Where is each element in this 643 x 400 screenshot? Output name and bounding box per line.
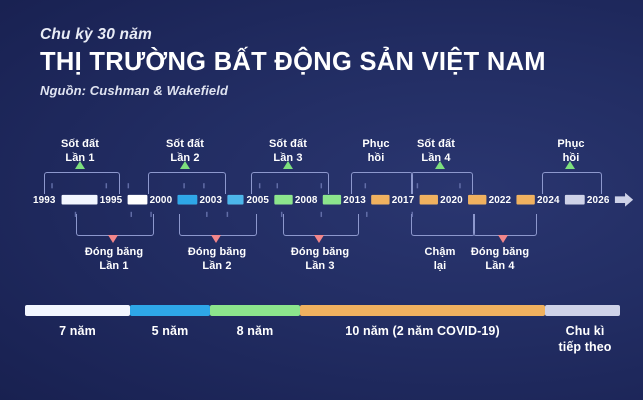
trough-label-5-line2: Lần 4 bbox=[460, 260, 540, 274]
timeline-segment-4 bbox=[227, 195, 243, 205]
tick-mark bbox=[206, 212, 207, 217]
duration-label-3-line1: 8 năm bbox=[210, 323, 300, 339]
page-title: THỊ TRƯỜNG BẤT ĐỘNG SẢN VIỆT NAM bbox=[40, 48, 620, 77]
timeline-year-2020: 2020 bbox=[440, 192, 463, 208]
tick-mark bbox=[150, 212, 151, 217]
timeline-year-row: 1993 1995 2000 2003 2005 2008 2013 2017 bbox=[19, 192, 491, 208]
duration-label-5-line2: tiếp theo bbox=[545, 339, 625, 355]
duration-label-2-line1: 5 năm bbox=[130, 323, 210, 339]
tick-mark bbox=[277, 183, 278, 188]
timeline-year-2008: 2008 bbox=[295, 192, 318, 208]
trough-label-1-line1: Đóng băng bbox=[69, 246, 159, 260]
peak-label-6: Phục hồi bbox=[536, 138, 606, 166]
trough-bracket-3 bbox=[283, 214, 359, 236]
trough-label-3-line2: Lần 3 bbox=[275, 260, 365, 274]
timeline-segment-7 bbox=[371, 195, 389, 205]
duration-label-1-line1: 7 năm bbox=[25, 323, 130, 339]
timeline-year-2024: 2024 bbox=[537, 192, 560, 208]
peak-label-1-line2: Lần 1 bbox=[40, 152, 120, 166]
peak-label-3-line1: Sốt đất bbox=[248, 138, 328, 152]
timeline-year-2005: 2005 bbox=[246, 192, 269, 208]
timeline-end-arrow-icon bbox=[615, 193, 633, 207]
peak-label-5-line2: Lần 4 bbox=[401, 152, 471, 166]
tick-mark bbox=[459, 183, 460, 188]
trough-label-1: Đóng băng Lần 1 bbox=[69, 246, 159, 274]
timeline-segment-6 bbox=[323, 195, 341, 205]
tick-mark bbox=[321, 212, 322, 217]
timeline-segment-5 bbox=[274, 195, 292, 205]
header-kicker: Chu kỳ 30 năm bbox=[40, 26, 620, 43]
timeline-segment-10 bbox=[516, 195, 534, 205]
trough-label-3-line1: Đóng băng bbox=[275, 246, 365, 260]
timeline-segment-11 bbox=[565, 195, 585, 205]
timeline-segment-8 bbox=[420, 195, 438, 205]
tick-mark bbox=[417, 183, 418, 188]
duration-label-3: 8 năm bbox=[210, 323, 300, 339]
timeline-year-1993: 1993 bbox=[33, 192, 56, 208]
tick-mark bbox=[412, 212, 413, 217]
trough-label-3: Đóng băng Lần 3 bbox=[275, 246, 365, 274]
peak-label-1-line1: Sốt đất bbox=[40, 138, 120, 152]
trough-label-5: Đóng băng Lần 4 bbox=[460, 246, 540, 274]
peak-bracket-5 bbox=[411, 172, 473, 194]
duration-label-5: Chu kì tiếp theo bbox=[545, 323, 625, 356]
timeline-year-2003: 2003 bbox=[199, 192, 222, 208]
duration-segment-4 bbox=[300, 305, 545, 316]
duration-segment-3 bbox=[210, 305, 300, 316]
trough-bracket-2 bbox=[179, 214, 257, 236]
trough-bracket-4 bbox=[411, 214, 475, 236]
duration-label-4: 10 năm (2 năm COVID-19) bbox=[300, 323, 545, 339]
peak-label-1: Sốt đất Lần 1 bbox=[40, 138, 120, 166]
header-block: Chu kỳ 30 năm THỊ TRƯỜNG BẤT ĐỘNG SẢN VI… bbox=[40, 26, 620, 98]
tick-mark bbox=[128, 183, 129, 188]
timeline-year-2000: 2000 bbox=[150, 192, 173, 208]
timeline-segment-9 bbox=[468, 195, 486, 205]
timeline-segment-2 bbox=[128, 195, 148, 205]
timeline-year-2026: 2026 bbox=[587, 192, 610, 208]
peak-bracket-3 bbox=[251, 172, 329, 194]
timeline-year-2022: 2022 bbox=[489, 192, 512, 208]
duration-segment-2 bbox=[130, 305, 210, 316]
duration-label-5-line1: Chu kì bbox=[545, 323, 625, 339]
trough-label-1-line2: Lần 1 bbox=[69, 260, 159, 274]
timeline-segment-3 bbox=[177, 195, 197, 205]
peak-label-2-line1: Sốt đất bbox=[145, 138, 225, 152]
peak-label-5-line1: Sốt đất bbox=[401, 138, 471, 152]
tick-mark bbox=[259, 183, 260, 188]
trough-label-2: Đóng băng Lần 2 bbox=[172, 246, 262, 274]
source-credit: Nguồn: Cushman & Wakefield bbox=[40, 84, 620, 98]
tick-mark bbox=[366, 212, 367, 217]
duration-segment-5 bbox=[545, 305, 620, 316]
duration-label-2: 5 năm bbox=[130, 323, 210, 339]
tick-mark bbox=[281, 212, 282, 217]
peak-label-2: Sốt đất Lần 2 bbox=[145, 138, 225, 166]
duration-bar bbox=[0, 305, 643, 319]
trough-label-2-line2: Lần 2 bbox=[172, 260, 262, 274]
trough-marker-icon-4 bbox=[498, 235, 508, 243]
trough-label-5-line1: Đóng băng bbox=[460, 246, 540, 260]
infographic-poster: Chu kỳ 30 năm THỊ TRƯỜNG BẤT ĐỘNG SẢN VI… bbox=[0, 0, 643, 400]
duration-label-4-line1: 10 năm (2 năm COVID-19) bbox=[300, 323, 545, 339]
timeline-year-2017: 2017 bbox=[392, 192, 415, 208]
peak-label-2-line2: Lần 2 bbox=[145, 152, 225, 166]
trough-bracket-5 bbox=[473, 214, 537, 236]
peak-bracket-1 bbox=[44, 172, 120, 194]
trough-marker-icon-1 bbox=[108, 235, 118, 243]
trough-label-2-line1: Đóng băng bbox=[172, 246, 262, 260]
tick-mark bbox=[227, 212, 228, 217]
timeline-segment-1 bbox=[62, 195, 98, 205]
peak-label-6-line2: hồi bbox=[536, 152, 606, 166]
tick-mark bbox=[183, 183, 184, 188]
trough-marker-icon-3 bbox=[314, 235, 324, 243]
tick-mark bbox=[365, 183, 366, 188]
tick-mark bbox=[131, 212, 132, 217]
tick-mark bbox=[51, 183, 52, 188]
timeline-year-1995: 1995 bbox=[100, 192, 123, 208]
trough-bracket-1 bbox=[76, 214, 154, 236]
tick-mark bbox=[203, 183, 204, 188]
peak-label-3-line2: Lần 3 bbox=[248, 152, 328, 166]
peak-bracket-2 bbox=[148, 172, 226, 194]
peak-bracket-4 bbox=[351, 172, 413, 194]
trough-marker-icon-2 bbox=[211, 235, 221, 243]
tick-mark bbox=[106, 183, 107, 188]
timeline: Sốt đất Lần 1 Sốt đất Lần 2 Sốt đất Lần … bbox=[0, 130, 643, 280]
peak-bracket-6 bbox=[542, 172, 602, 194]
tick-mark bbox=[75, 212, 76, 217]
peak-label-5: Sốt đất Lần 4 bbox=[401, 138, 471, 166]
duration-segment-1 bbox=[25, 305, 130, 316]
tick-mark bbox=[321, 183, 322, 188]
timeline-year-2013: 2013 bbox=[343, 192, 366, 208]
duration-label-1: 7 năm bbox=[25, 323, 130, 339]
peak-label-6-line1: Phục bbox=[536, 138, 606, 152]
peak-label-3: Sốt đất Lần 3 bbox=[248, 138, 328, 166]
